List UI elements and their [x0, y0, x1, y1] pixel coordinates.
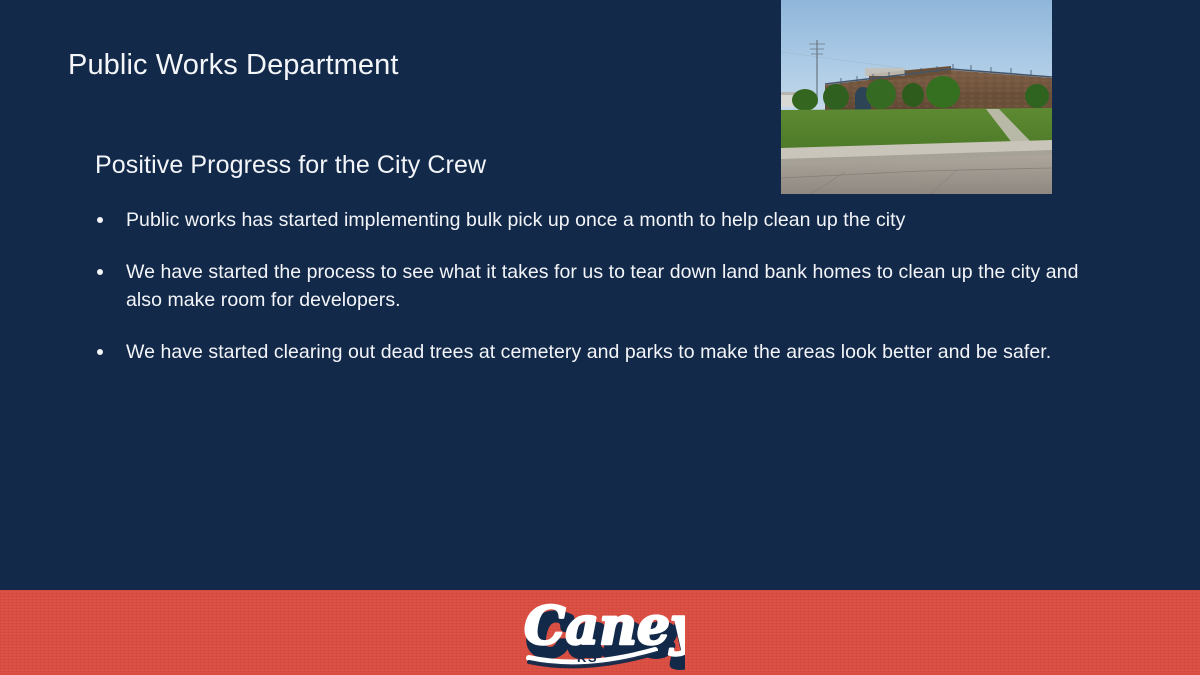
- caney-logo-text: Caney: [524, 596, 685, 657]
- list-item-text: Public works has started implementing bu…: [126, 206, 1102, 235]
- list-item-text: We have started the process to see what …: [126, 258, 1102, 315]
- bullet-dot-icon: [97, 217, 103, 223]
- photo-illustration: [781, 0, 1052, 194]
- page-title: Public Works Department: [68, 46, 399, 84]
- caney-logo: Caney Caney KS: [515, 592, 685, 675]
- caney-logo-mark: Caney Caney KS: [515, 592, 685, 675]
- bullet-dot-icon: [97, 349, 103, 355]
- bullet-dot-icon: [97, 269, 103, 275]
- caney-logo-state-abbrev: KS: [577, 650, 598, 665]
- slide-photo: [781, 0, 1052, 194]
- list-item: Public works has started implementing bu…: [92, 206, 1102, 235]
- list-item-text: We have started clearing out dead trees …: [126, 338, 1102, 367]
- list-item: We have started the process to see what …: [92, 258, 1102, 315]
- presentation-slide: Public Works Department Positive Progres…: [0, 0, 1200, 675]
- list-item: We have started clearing out dead trees …: [92, 338, 1102, 367]
- slide-subtitle: Positive Progress for the City Crew: [95, 148, 486, 182]
- bullet-list: Public works has started implementing bu…: [92, 206, 1102, 366]
